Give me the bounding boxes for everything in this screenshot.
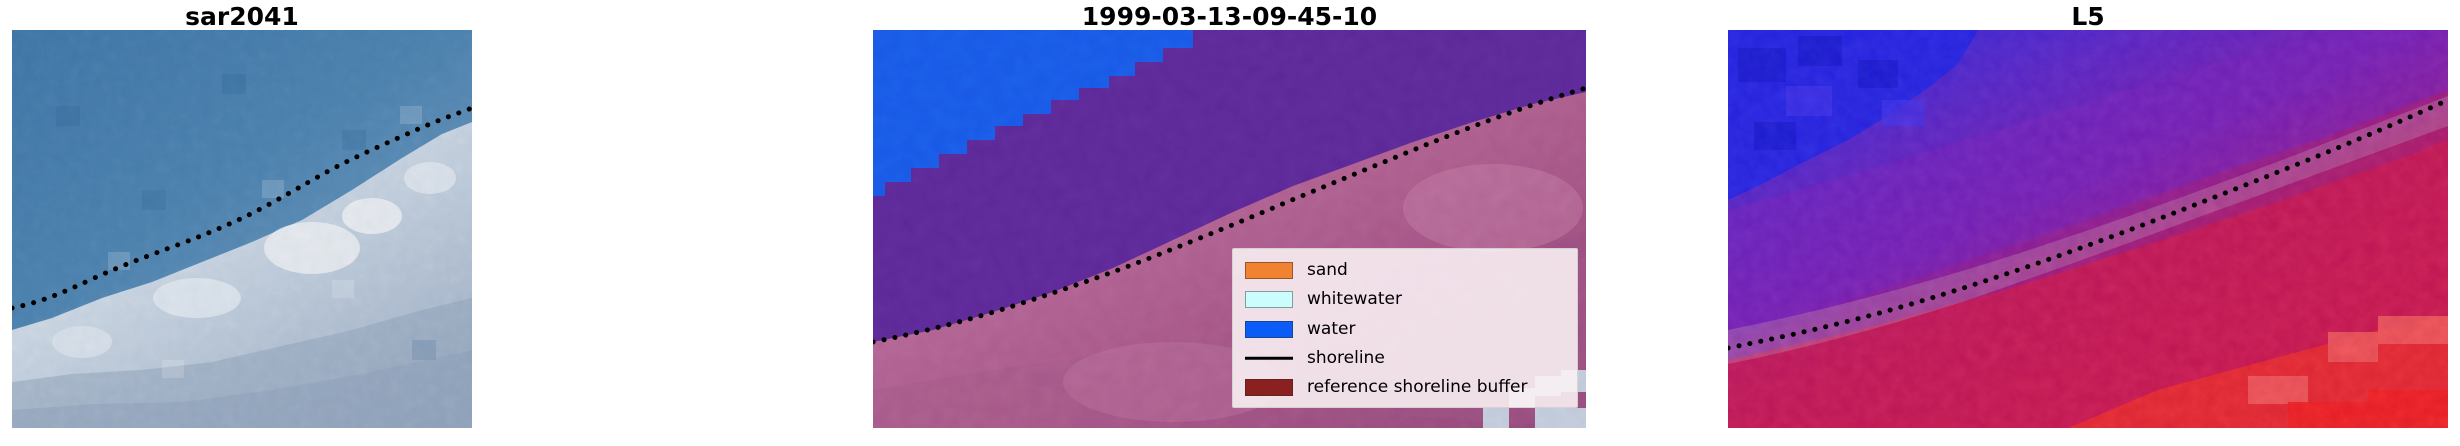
panel-title-rgb: sar2041 — [12, 2, 472, 32]
panel-title-classification: 1999-03-13-09-45-10 — [873, 2, 1586, 32]
index-raster — [1728, 30, 2448, 428]
panel-index-image — [1728, 30, 2448, 428]
shoreline-line-sample — [1245, 350, 1293, 367]
legend-label-whitewater: whitewater — [1307, 290, 1402, 309]
reference-buffer-color-swatch — [1245, 379, 1293, 396]
water-color-swatch — [1245, 321, 1293, 338]
legend-item-sand: sand — [1245, 258, 1567, 283]
legend-item-water: water — [1245, 317, 1567, 342]
legend-box: sand whitewater water shoreline referenc… — [1232, 248, 1578, 408]
figure-canvas: sar2041 — [0, 0, 2460, 446]
legend-label-water: water — [1307, 320, 1355, 339]
legend-item-whitewater: whitewater — [1245, 287, 1567, 312]
whitewater-color-swatch — [1245, 291, 1293, 308]
legend-item-reference-buffer: reference shoreline buffer — [1245, 375, 1567, 400]
sand-color-swatch — [1245, 262, 1293, 279]
rgb-raster — [12, 30, 472, 428]
panel-rgb-image — [12, 30, 472, 428]
legend-label-reference-buffer: reference shoreline buffer — [1307, 378, 1528, 397]
legend-label-shoreline: shoreline — [1307, 349, 1385, 368]
legend-item-shoreline: shoreline — [1245, 346, 1567, 371]
legend-label-sand: sand — [1307, 261, 1348, 280]
panel-title-index: L5 — [1728, 2, 2448, 32]
